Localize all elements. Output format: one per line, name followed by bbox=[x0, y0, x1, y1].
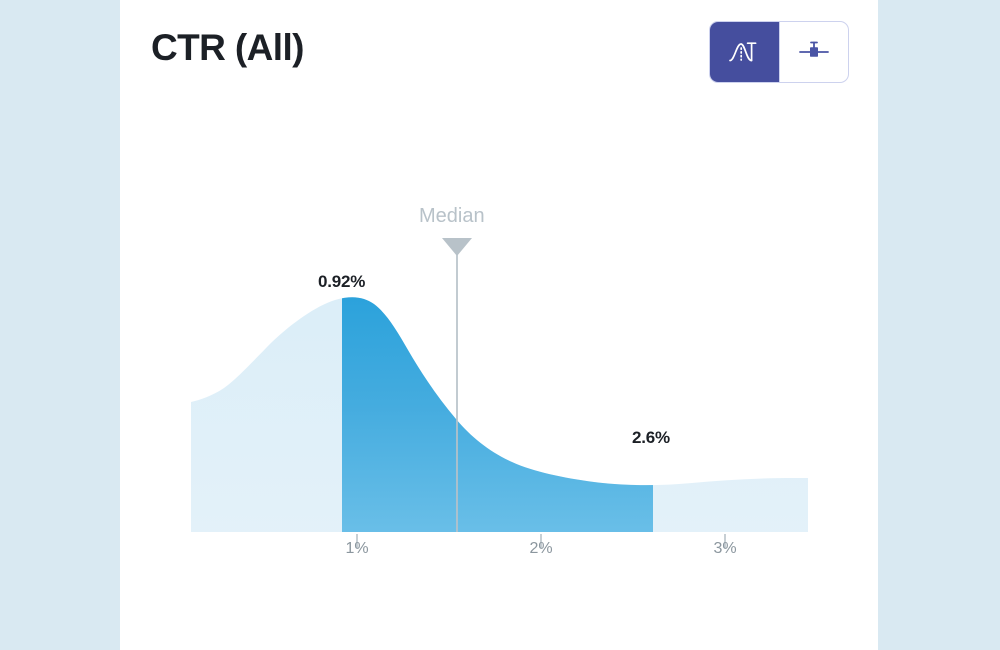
x-axis-tick-label-1: 1% bbox=[345, 540, 368, 558]
toggle-boxplot-view[interactable] bbox=[779, 22, 848, 82]
median-label: Median bbox=[419, 205, 485, 228]
highlight-start-label: 0.92% bbox=[318, 272, 365, 292]
highlight-end-label: 2.6% bbox=[632, 428, 670, 448]
distribution-chart-svg bbox=[120, 110, 878, 650]
toggle-distribution-view[interactable] bbox=[710, 22, 779, 82]
density-area-muted bbox=[120, 110, 878, 650]
distribution-chart: 0.92% 2.6% Median 1% 2% 3% bbox=[120, 110, 878, 650]
chart-card: CTR (All) bbox=[120, 0, 878, 650]
density-area-highlight bbox=[342, 110, 653, 650]
card-header: CTR (All) bbox=[120, 0, 878, 110]
page-title: CTR (All) bbox=[151, 28, 304, 69]
x-axis-tick-label-2: 2% bbox=[529, 540, 552, 558]
view-toggle-group[interactable] bbox=[709, 21, 849, 83]
distribution-curve-icon bbox=[728, 39, 762, 65]
x-axis-tick-label-3: 3% bbox=[713, 540, 736, 558]
box-plot-icon bbox=[797, 39, 831, 65]
